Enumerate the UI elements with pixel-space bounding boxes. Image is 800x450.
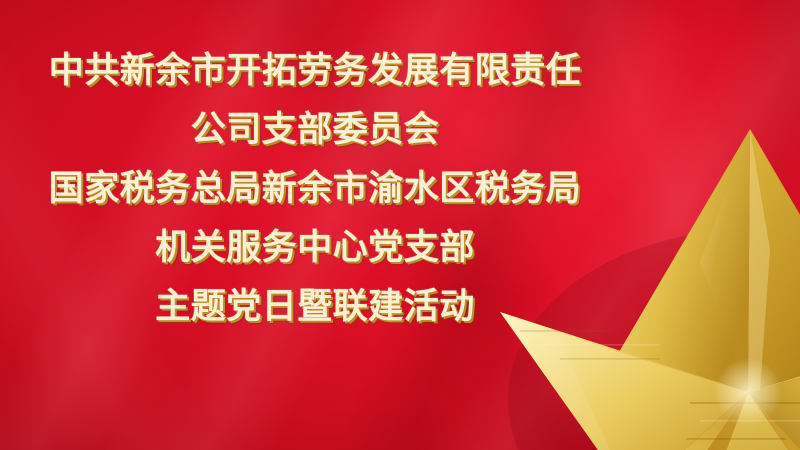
title-line-5: 主题党日暨联建活动 [0, 278, 630, 337]
poster-title-block: 中共新余市开拓劳务发展有限责任 公司支部委员会 国家税务总局新余市渝水区税务局 … [0, 42, 630, 337]
title-line-4: 机关服务中心党支部 [0, 219, 630, 278]
poster-canvas: 中共新余市开拓劳务发展有限责任 公司支部委员会 国家税务总局新余市渝水区税务局 … [0, 0, 800, 450]
title-line-1: 中共新余市开拓劳务发展有限责任 [0, 42, 630, 101]
title-line-2: 公司支部委员会 [0, 101, 630, 160]
title-line-3: 国家税务总局新余市渝水区税务局 [0, 160, 630, 219]
